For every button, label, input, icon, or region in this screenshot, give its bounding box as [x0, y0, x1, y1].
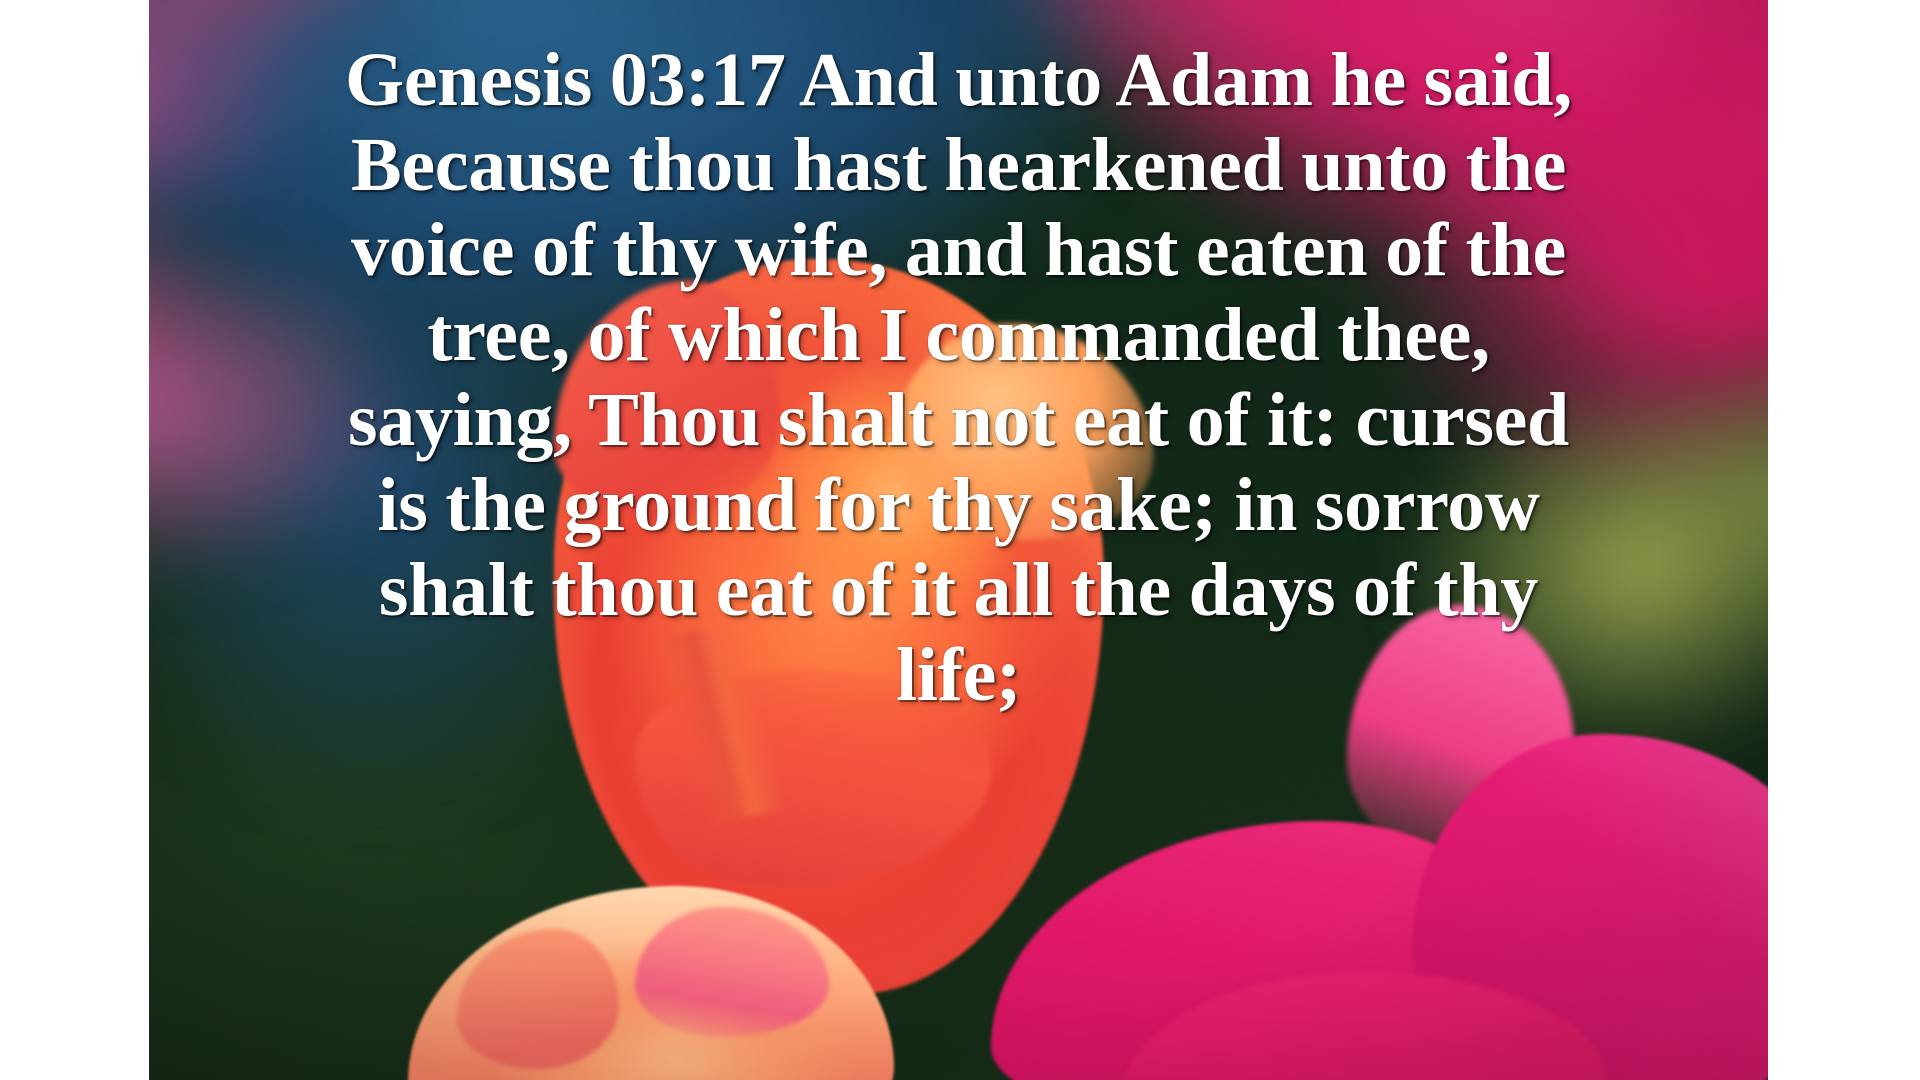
left-white-margin	[0, 0, 149, 1080]
rose-photograph: Genesis 03:17 And unto Adam he said, Bec…	[149, 0, 1768, 1080]
screenshot-canvas: Genesis 03:17 And unto Adam he said, Bec…	[0, 0, 1920, 1080]
bible-verse-text: Genesis 03:17 And unto Adam he said, Bec…	[334, 38, 1584, 718]
right-white-margin	[1768, 0, 1920, 1080]
verse-overlay: Genesis 03:17 And unto Adam he said, Bec…	[149, 0, 1768, 1080]
